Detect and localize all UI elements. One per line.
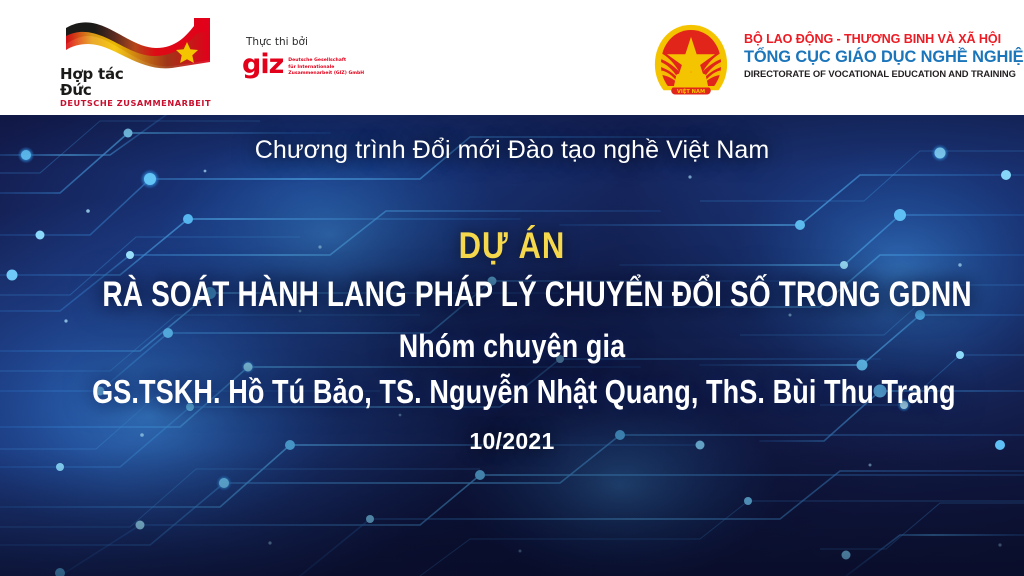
project-title: RÀ SOÁT HÀNH LANG PHÁP LÝ CHUYỂN ĐỔI SỐ … [102, 275, 921, 315]
giz-wordmark-row: giz Deutsche Gesellschaft für Internatio… [242, 54, 364, 78]
molisa-text-block: BỘ LAO ĐỘNG - THƯƠNG BINH VÀ XÃ HỘI TỔNG… [744, 32, 1012, 81]
directorate-name-line-en: DIRECTORATE OF VOCATIONAL EDUCATION AND … [744, 68, 1012, 80]
german-cooperation-logo: Hợp tác Đức DEUTSCHE ZUSAMMENARBEIT [52, 14, 220, 106]
german-logo-tagline: DEUTSCHE ZUSAMMENARBEIT [60, 98, 211, 108]
giz-subtitle-line3: Zusammenarbeit (GIZ) GmbH [288, 71, 364, 78]
molisa-logo-block: VIỆT NAM BỘ LAO ĐỘNG - THƯƠNG BINH VÀ XÃ… [648, 16, 1008, 108]
german-logo-line2: Đức [60, 82, 124, 98]
giz-wordmark: giz [242, 54, 283, 77]
expert-group-label: Nhóm chuyên gia [82, 328, 942, 365]
banner-text-block: Chương trình Đổi mới Đào tạo nghề Việt N… [0, 115, 1024, 576]
implemented-by-label: Thực thi bởi [246, 36, 308, 48]
cover-banner: Chương trình Đổi mới Đào tạo nghề Việt N… [0, 115, 1024, 576]
presentation-cover-slide: Hợp tác Đức DEUTSCHE ZUSAMMENARBEIT Thực… [0, 0, 1024, 576]
svg-text:VIỆT NAM: VIỆT NAM [677, 87, 705, 95]
vietnam-national-emblem-icon: VIỆT NAM [648, 18, 734, 104]
expert-names: GS.TSKH. Hồ Tú Bảo, TS. Nguyễn Nhật Quan… [92, 373, 932, 411]
project-label: DỰ ÁN [82, 225, 942, 267]
giz-logo: Thực thi bởi giz Deutsche Gesellschaft f… [236, 36, 376, 98]
giz-subtitle-line1: Deutsche Gesellschaft [288, 58, 364, 65]
german-vietnam-flag-wave-icon [60, 14, 220, 72]
directorate-name-line-vi: TỔNG CỤC GIÁO DỤC NGHỀ NGHIỆP [744, 48, 1012, 68]
logo-header-bar: Hợp tác Đức DEUTSCHE ZUSAMMENARBEIT Thực… [0, 0, 1024, 115]
german-logo-line1: Hợp tác [60, 66, 124, 82]
ministry-name-line: BỘ LAO ĐỘNG - THƯƠNG BINH VÀ XÃ HỘI [744, 32, 1012, 48]
program-title: Chương trình Đổi mới Đào tạo nghề Việt N… [0, 136, 1024, 165]
german-logo-text: Hợp tác Đức [60, 66, 124, 98]
giz-subtitle: Deutsche Gesellschaft für Internationale… [288, 58, 364, 78]
date-label: 10/2021 [0, 428, 1024, 455]
